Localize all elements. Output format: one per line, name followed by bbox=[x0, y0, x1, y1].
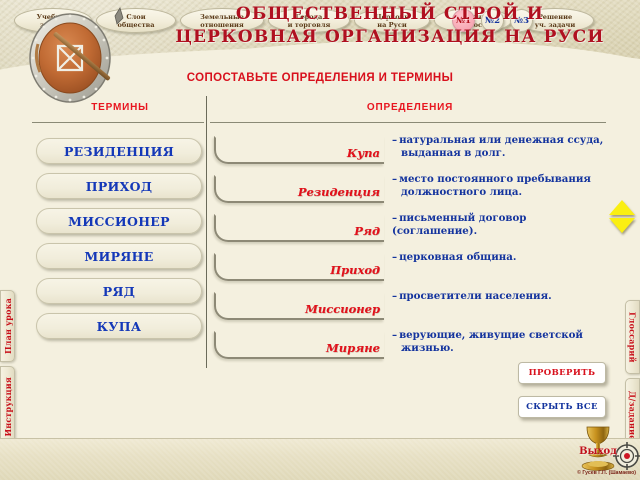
definition-text-6: –верующие, живущие светской жизнью. bbox=[392, 329, 606, 355]
definitions-column-header: ОПРЕДЕЛЕНИЯ bbox=[215, 102, 605, 113]
dash-marker: – bbox=[392, 290, 397, 302]
definition-line-1b: выданная в долг. bbox=[392, 147, 606, 160]
term-label: МИРЯНЕ bbox=[84, 249, 153, 264]
definition-line-6b: жизнью. bbox=[392, 342, 606, 355]
dash-marker: – bbox=[392, 173, 397, 185]
dash-marker: – bbox=[392, 212, 397, 224]
arrow-up-icon[interactable] bbox=[609, 200, 635, 215]
term-button-miryane[interactable]: МИРЯНЕ bbox=[36, 243, 202, 269]
sidebar-tab-lesson-plan[interactable]: План урока bbox=[0, 290, 15, 362]
term-button-kupa[interactable]: КУПА bbox=[36, 313, 202, 339]
sidebar-tab-instructions[interactable]: Инструкция bbox=[0, 366, 15, 448]
answer-slot-6[interactable] bbox=[214, 331, 384, 359]
terms-list: РЕЗИДЕНЦИЯ ПРИХОД МИССИОНЕР МИРЯНЕ РЯД К… bbox=[36, 138, 202, 348]
definition-line-2: место постоянного пребывания bbox=[399, 173, 591, 185]
term-button-ryad[interactable]: РЯД bbox=[36, 278, 202, 304]
tab-label: План урока bbox=[3, 298, 13, 354]
check-answers-button[interactable]: ПРОВЕРИТЬ bbox=[518, 362, 606, 384]
definitions-list: Купа –натуральная или денежная ссуда, вы… bbox=[214, 134, 606, 368]
definition-row: Миссионер –просветители населения. bbox=[214, 290, 606, 326]
definition-line-4: церковная община. bbox=[399, 251, 516, 263]
term-label: ПРИХОД bbox=[86, 179, 153, 194]
tab-label: Глоссарий bbox=[628, 312, 638, 363]
term-label: КУПА bbox=[97, 319, 142, 334]
definition-row: Купа –натуральная или денежная ссуда, вы… bbox=[214, 134, 606, 170]
term-label: МИССИОНЕР bbox=[68, 214, 170, 229]
definition-line-5: просветители населения. bbox=[399, 290, 552, 302]
author-credit: © Гусев Г.П. (Шамаево) bbox=[0, 470, 640, 476]
definition-line-3: письменный договор (соглашение). bbox=[392, 212, 526, 237]
arrow-down-icon[interactable] bbox=[609, 218, 635, 233]
definition-line-6: верующие, живущие светской bbox=[399, 329, 583, 341]
definition-row: Миряне –верующие, живущие светской жизнь… bbox=[214, 329, 606, 365]
answer-slot-1[interactable] bbox=[214, 136, 384, 164]
definition-line-1: натуральная или денежная ссуда, bbox=[399, 134, 603, 146]
definition-row: Ряд –письменный договор (соглашение). bbox=[214, 212, 606, 248]
definition-text-1: –натуральная или денежная ссуда, выданна… bbox=[392, 134, 606, 160]
nav-label-line1: Слои bbox=[126, 13, 145, 21]
exit-label: Выход bbox=[576, 446, 620, 457]
definition-row: Резиденция –место постоянного пребывания… bbox=[214, 173, 606, 209]
tab-label: Инструкция bbox=[3, 377, 13, 437]
definition-text-3: –письменный договор (соглашение). bbox=[392, 212, 606, 238]
answer-slot-2[interactable] bbox=[214, 175, 384, 203]
term-label: РЕЗИДЕНЦИЯ bbox=[64, 144, 174, 159]
term-button-rezidenciya[interactable]: РЕЗИДЕНЦИЯ bbox=[36, 138, 202, 164]
answer-slot-5[interactable] bbox=[214, 292, 384, 320]
page-title: ОБЩЕСТВЕННЫЙ СТРОЙ И ЦЕРКОВНАЯ ОРГАНИЗАЦ… bbox=[150, 3, 630, 49]
definition-line-2b: должностного лица. bbox=[392, 186, 606, 199]
answer-slot-4[interactable] bbox=[214, 253, 384, 281]
definition-text-5: –просветители населения. bbox=[392, 290, 606, 303]
shield-and-spear-icon bbox=[18, 2, 128, 107]
scroll-arrows bbox=[609, 200, 635, 233]
definition-row: Приход –церковная община. bbox=[214, 251, 606, 287]
hide-all-button[interactable]: СКРЫТЬ ВСЕ bbox=[518, 396, 606, 418]
term-label: РЯД bbox=[103, 284, 135, 299]
definitions-header-rule bbox=[210, 122, 606, 123]
dash-marker: – bbox=[392, 134, 397, 146]
definition-text-2: –место постоянного пребывания должностно… bbox=[392, 173, 606, 199]
title-line-2: ЦЕРКОВНАЯ ОРГАНИЗАЦИЯ НА РУСИ bbox=[150, 26, 630, 49]
sidebar-tab-glossary[interactable]: Глоссарий bbox=[625, 300, 640, 374]
dash-marker: – bbox=[392, 251, 397, 263]
definition-text-4: –церковная община. bbox=[392, 251, 606, 264]
title-line-1: ОБЩЕСТВЕННЫЙ СТРОЙ И bbox=[150, 3, 630, 26]
column-divider bbox=[206, 96, 207, 368]
term-button-prihod[interactable]: ПРИХОД bbox=[36, 173, 202, 199]
dash-marker: – bbox=[392, 329, 397, 341]
term-button-missioner[interactable]: МИССИОНЕР bbox=[36, 208, 202, 234]
terms-header-rule bbox=[32, 122, 204, 123]
answer-slot-3[interactable] bbox=[214, 214, 384, 242]
presentation-slide: ОБЩЕСТВЕННЫЙ СТРОЙ И ЦЕРКОВНАЯ ОРГАНИЗАЦ… bbox=[0, 0, 640, 480]
